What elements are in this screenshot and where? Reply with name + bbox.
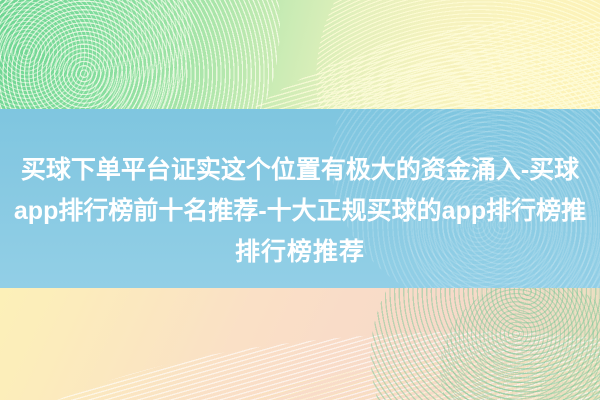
bottom-decorative-band (0, 288, 600, 400)
headline-line-2: app排行榜前十名推荐-十大正规买球的app排行榜推 (0, 191, 600, 232)
wave-fan-icon (276, 0, 600, 109)
top-decorative-band (0, 0, 600, 109)
page-title: 买球下单平台证实这个位置有极大的资金涌入-买球 app排行榜前十名推荐-十大正规… (0, 150, 600, 273)
banner-image: 买球下单平台证实这个位置有极大的资金涌入-买球 app排行榜前十名推荐-十大正规… (0, 0, 600, 400)
headline-line-3: 排行榜推荐 (0, 232, 600, 273)
headline-line-1: 买球下单平台证实这个位置有极大的资金涌入-买球 (0, 150, 600, 191)
